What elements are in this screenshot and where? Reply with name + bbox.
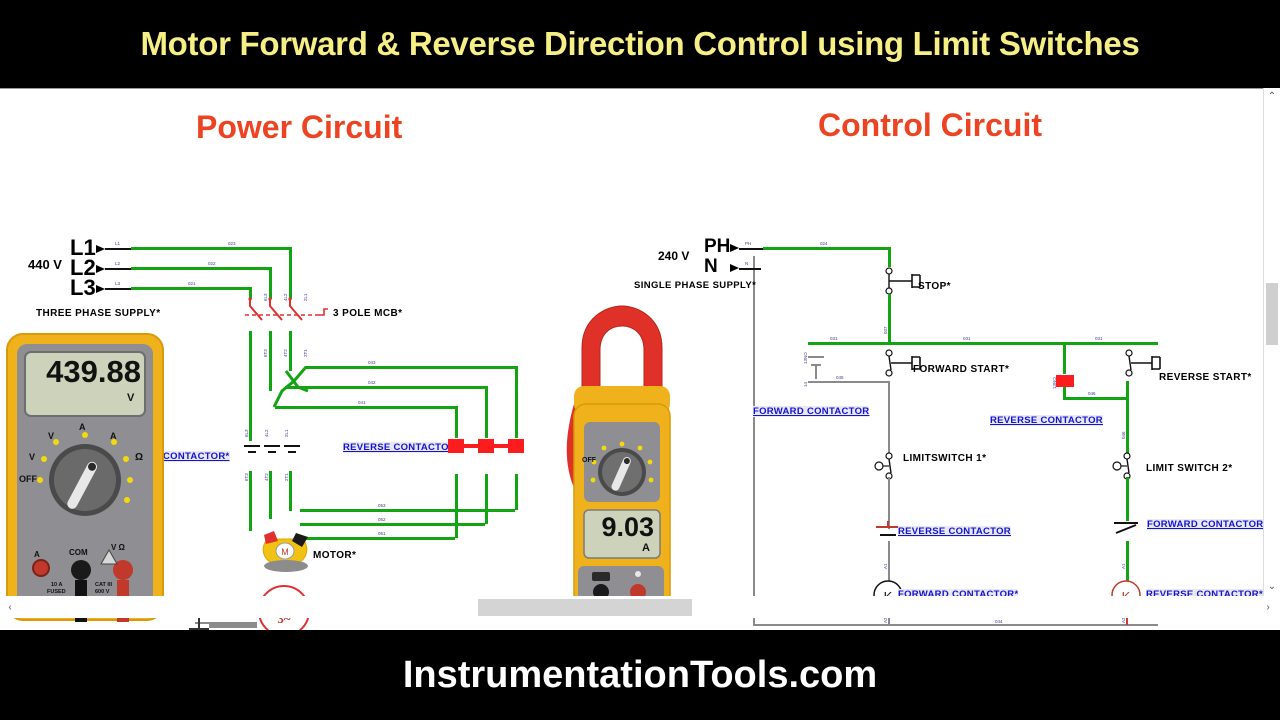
reverse-branch-mid bbox=[1126, 477, 1129, 521]
wire-number-042: 042 bbox=[368, 380, 376, 385]
dial-label-off: OFF bbox=[19, 474, 37, 484]
single-phase-supply-label: SINGLE PHASE SUPPLY* bbox=[634, 280, 756, 291]
wire-number-031-c: 031 bbox=[1095, 336, 1103, 341]
three-phase-supply-label: THREE PHASE SUPPLY* bbox=[36, 308, 161, 319]
stop-label: STOP* bbox=[918, 281, 951, 292]
wire-number-031-a: 031 bbox=[830, 336, 838, 341]
forward-aux-tag-13nc: 13NO bbox=[803, 352, 808, 364]
motor-wire-053 bbox=[300, 509, 515, 512]
reverse-branch-043 bbox=[305, 366, 518, 369]
contactor-out-l3 bbox=[249, 471, 252, 531]
dial-label-a-ac: A bbox=[110, 431, 117, 441]
wire-number-022: 022 bbox=[208, 261, 216, 266]
dial-label-v-dc: V bbox=[29, 452, 35, 462]
supply-wire-l2 bbox=[131, 267, 272, 270]
mcb-symbol bbox=[240, 294, 340, 334]
reverse-contactor-pole-1 bbox=[508, 439, 524, 453]
reverse-start-label: REVERSE START* bbox=[1159, 372, 1252, 383]
fuse-sub-label: FUSED bbox=[47, 589, 66, 595]
control-tag-n: N bbox=[745, 261, 748, 266]
svg-text:M: M bbox=[281, 547, 289, 557]
control-wire-037 bbox=[888, 294, 891, 342]
motor-wire-053-riser bbox=[515, 474, 518, 510]
reverse-contactor-power-label: REVERSE CONTACTOR* bbox=[343, 442, 460, 453]
wire-number-051: 051 bbox=[378, 531, 386, 536]
reverse-coil-terminal-a1: A1 bbox=[1121, 563, 1126, 569]
dial-label-v-ac: V bbox=[48, 431, 54, 441]
lead-stub-l2 bbox=[105, 268, 131, 270]
reverse-branch-upper bbox=[1126, 381, 1129, 455]
clamp-jaw-on-motor-lead: M bbox=[256, 529, 318, 581]
main-contactor-symbol bbox=[240, 434, 310, 476]
cat-rating-label: CAT III bbox=[95, 582, 112, 588]
reverse-branch-043-drop bbox=[515, 366, 518, 438]
control-rung-031-left bbox=[808, 342, 1068, 345]
control-frame-bottom bbox=[753, 624, 1158, 626]
contactor-label: CONTACTOR* bbox=[163, 451, 230, 462]
forward-branch-upper bbox=[888, 381, 890, 455]
jack-label-a: A bbox=[34, 550, 40, 559]
phase-label-l3: L3 bbox=[70, 275, 96, 301]
contactor-out-l1 bbox=[289, 471, 292, 511]
reverse-branch-041-drop bbox=[455, 406, 458, 438]
diagram-canvas: Power Circuit Control Circuit 440 V L1 L… bbox=[0, 89, 1280, 630]
control-rung-031-right bbox=[1065, 342, 1158, 345]
wire-number-023: 023 bbox=[228, 241, 236, 246]
supply-wire-l3 bbox=[131, 287, 252, 290]
clamp-meter-reading: 9.03 bbox=[586, 512, 654, 543]
horizontal-scrollbar-thumb[interactable] bbox=[478, 599, 692, 616]
control-wire-024 bbox=[763, 247, 891, 250]
power-circuit-heading: Power Circuit bbox=[196, 109, 402, 146]
forward-start-label: FORWARD START* bbox=[913, 364, 1009, 375]
mcb-tag-4t2: 4T2 bbox=[283, 349, 288, 357]
motor-wire-051-riser bbox=[455, 474, 458, 538]
mcb-tag-2t1: 2T1 bbox=[303, 349, 308, 357]
jack-label-v-ohm: V Ω bbox=[111, 543, 125, 552]
forward-branch-lower bbox=[888, 541, 890, 581]
lead-stub-l3 bbox=[105, 288, 131, 290]
multimeter-unit: V bbox=[127, 392, 134, 404]
wire-number-024: 024 bbox=[820, 241, 828, 246]
control-circuit-heading: Control Circuit bbox=[818, 107, 1042, 144]
limit-switch-2-label: LIMIT SWITCH 2* bbox=[1146, 463, 1233, 474]
control-lead-n bbox=[739, 268, 761, 270]
wire-number-021: 021 bbox=[188, 281, 196, 286]
page-title: Motor Forward & Reverse Direction Contro… bbox=[140, 25, 1139, 63]
mcb-tag-6t3: 6T3 bbox=[263, 349, 268, 357]
jack-label-com: COM bbox=[69, 548, 88, 557]
motor-wire-052-riser bbox=[485, 474, 488, 524]
motor-wire-051 bbox=[300, 537, 455, 540]
dial-label-ohm: Ω bbox=[135, 452, 143, 463]
reverse-contactor-pole-2 bbox=[478, 439, 494, 453]
reverse-aux-tag: 13NO bbox=[1052, 377, 1057, 389]
phase-crossover bbox=[268, 361, 318, 413]
contactor-tag-2l1: 2L1 bbox=[284, 429, 289, 437]
control-frame-left bbox=[753, 256, 755, 626]
control-lead-ph bbox=[739, 248, 763, 250]
wire-number-044: 044 bbox=[995, 619, 1003, 624]
wire-number-041: 041 bbox=[358, 400, 366, 405]
contactor-out-l2 bbox=[269, 471, 272, 519]
wire-number-052: 052 bbox=[378, 517, 386, 522]
clamp-meter: 9.03 A OFF bbox=[560, 304, 682, 616]
control-terminal-ph: PH bbox=[704, 236, 730, 258]
reverse-contactor-link-b bbox=[494, 444, 508, 448]
reverse-contactor-aux-label: REVERSE CONTACTOR bbox=[990, 415, 1103, 426]
limit-switch-1-symbol[interactable] bbox=[868, 452, 908, 480]
motor-label: MOTOR* bbox=[313, 550, 356, 561]
wire-number-037: 037 bbox=[883, 326, 888, 334]
supply-drop-l1 bbox=[289, 247, 292, 299]
wire-number-031-b: 031 bbox=[963, 336, 971, 341]
reverse-contactor-interlock-label: REVERSE CONTACTOR bbox=[898, 526, 1011, 537]
control-tag-ph: PH bbox=[745, 241, 751, 246]
wire-number-045: 045 bbox=[836, 375, 844, 380]
forward-coil-terminal-a2: A2 bbox=[883, 617, 888, 623]
scroll-left-arrow-icon[interactable]: ‹ bbox=[2, 596, 18, 618]
forward-contactor-aux-label: FORWARD CONTACTOR bbox=[753, 406, 869, 417]
diagram-viewer: Power Circuit Control Circuit 440 V L1 L… bbox=[0, 88, 1280, 630]
wire-tag-l2: L2 bbox=[115, 261, 120, 266]
scroll-down-arrow-icon[interactable]: ⌄ bbox=[1264, 578, 1280, 594]
limit-switch-2-symbol[interactable] bbox=[1106, 452, 1146, 480]
control-supply-voltage: 240 V bbox=[658, 249, 689, 263]
contactor-tag-4l2: 4L2 bbox=[264, 429, 269, 437]
forward-coil-terminal-a1: A1 bbox=[883, 563, 888, 569]
control-terminal-n: N bbox=[704, 256, 718, 278]
reverse-coil-terminal-a2: A2 bbox=[1121, 617, 1126, 623]
forward-contactor-aux-contact bbox=[806, 347, 840, 383]
scroll-right-arrow-icon[interactable]: › bbox=[1260, 596, 1276, 618]
fuse-rating-label: 10 A bbox=[51, 582, 62, 588]
forward-aux-return-045 bbox=[808, 381, 890, 383]
digital-multimeter: 439.88 V V A A V OFF Ω A COM V Ω 10 A FU… bbox=[5, 332, 165, 622]
wire-tag-l1: L1 bbox=[115, 241, 120, 246]
reverse-contactor-aux-closed-block[interactable] bbox=[1056, 375, 1074, 387]
vertical-scrollbar[interactable]: ⌃ ⌄ bbox=[1263, 88, 1280, 612]
title-bar: Motor Forward & Reverse Direction Contro… bbox=[0, 0, 1280, 88]
forward-contactor-interlock-label: FORWARD CONTACTOR bbox=[1147, 519, 1263, 530]
lead-stub-l1 bbox=[105, 248, 131, 250]
clamp-meter-body bbox=[560, 304, 682, 616]
reverse-branch-lower bbox=[1126, 541, 1129, 581]
contactor-tag-6l3: 6L3 bbox=[244, 429, 249, 437]
scroll-up-arrow-icon[interactable]: ⌃ bbox=[1264, 88, 1280, 104]
wire-number-043: 043 bbox=[368, 360, 376, 365]
clamp-dial-off-label: OFF bbox=[582, 457, 596, 464]
wire-number-046: 046 bbox=[1088, 391, 1096, 396]
wire-number-046-v: 046 bbox=[1121, 431, 1126, 439]
limit-switch-1-label: LIMITSWITCH 1* bbox=[903, 453, 986, 464]
power-supply-voltage: 440 V bbox=[28, 257, 62, 272]
control-wire-024-drop bbox=[888, 247, 891, 267]
reverse-aux-drop bbox=[1063, 342, 1066, 374]
multimeter-reading: 439.88 bbox=[29, 354, 141, 390]
wire-number-053: 053 bbox=[378, 503, 386, 508]
mcb-out-l3 bbox=[249, 331, 252, 441]
vertical-scrollbar-thumb[interactable] bbox=[1266, 283, 1278, 345]
dial-label-a-dc: A bbox=[79, 422, 86, 432]
screenshot-root: Motor Forward & Reverse Direction Contro… bbox=[0, 0, 1280, 720]
footer-bar: InstrumentationTools.com bbox=[0, 630, 1280, 720]
reverse-branch-042-drop bbox=[485, 386, 488, 438]
mcb-label: 3 POLE MCB* bbox=[333, 308, 402, 319]
reverse-contactor-link-a bbox=[464, 444, 478, 448]
supply-wire-l1 bbox=[131, 247, 292, 250]
site-watermark: InstrumentationTools.com bbox=[403, 654, 877, 697]
clamp-meter-unit: A bbox=[642, 542, 650, 554]
wire-tag-l3: L3 bbox=[115, 281, 120, 286]
reverse-contactor-pole-3 bbox=[448, 439, 464, 453]
cat-voltage-label: 600 V bbox=[95, 589, 109, 595]
horizontal-scrollbar[interactable]: ‹ › bbox=[0, 596, 1280, 618]
reverse-aux-return-046 bbox=[1063, 397, 1128, 400]
